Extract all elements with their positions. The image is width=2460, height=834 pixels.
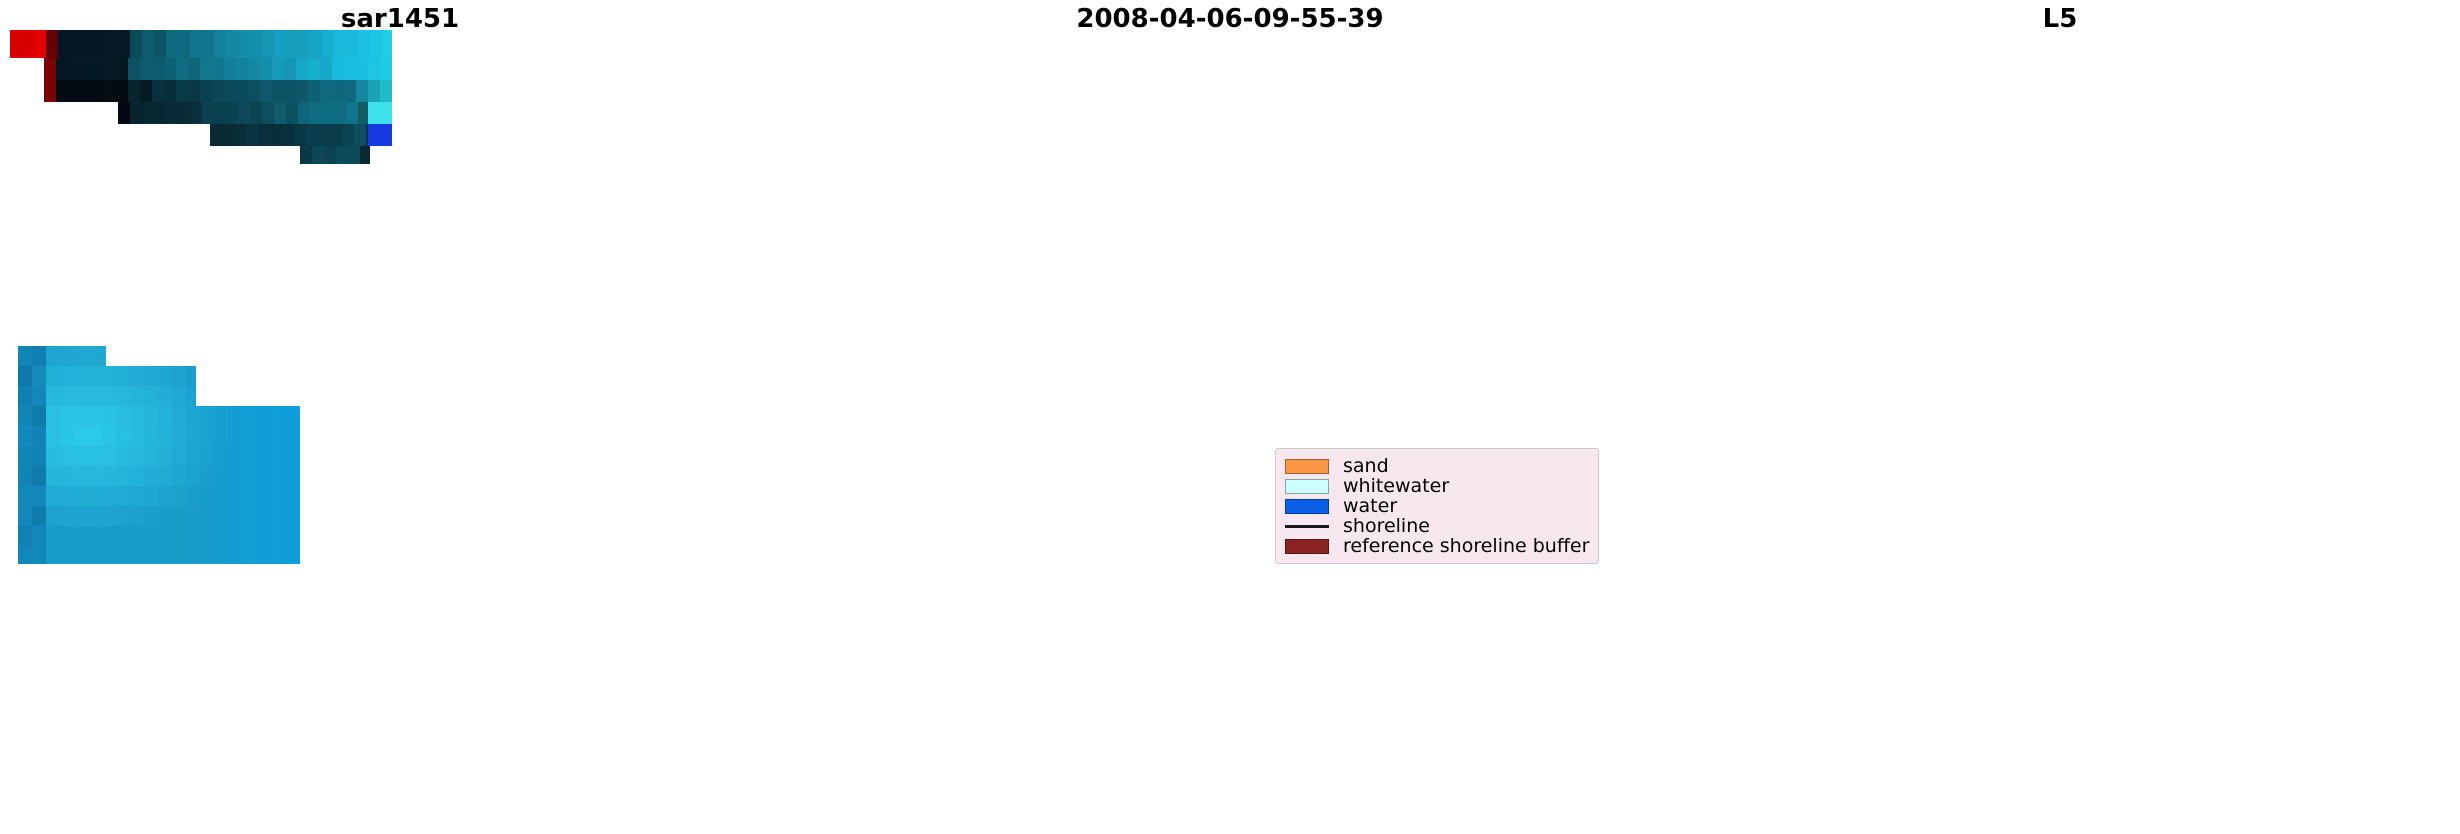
- sar-pixel: [102, 486, 116, 506]
- sar-pixel: [320, 58, 332, 80]
- sar-pixel: [32, 466, 46, 486]
- sar-pixel: [228, 546, 242, 564]
- sar-pixel: [298, 426, 300, 446]
- sar-pixel: [256, 426, 270, 446]
- sar-pixel: [164, 80, 176, 102]
- sar-pixel: [74, 386, 88, 406]
- sar-pixel: [250, 102, 262, 124]
- sar-pixel: [32, 346, 46, 366]
- legend-row: water: [1285, 496, 1589, 516]
- sar-pixel: [308, 80, 320, 102]
- sar-pixel: [270, 466, 284, 486]
- legend-label: reference shoreline buffer: [1343, 536, 1589, 556]
- sar-pixel: [298, 486, 300, 506]
- sar-pixel: [118, 30, 130, 58]
- sar-pixel: [158, 546, 172, 564]
- sar-pixel: [248, 58, 260, 80]
- sar-pixel: [298, 506, 300, 526]
- sar-pixel: [356, 80, 368, 102]
- legend-color-swatch: [1285, 479, 1329, 494]
- sar-pixel: [186, 506, 200, 526]
- sar-pixel: [144, 366, 158, 386]
- sar-pixel: [18, 466, 32, 486]
- sar-pixel: [300, 146, 312, 164]
- sar-pixel: [56, 58, 68, 80]
- sar-pixel: [158, 466, 172, 486]
- legend-label: whitewater: [1343, 476, 1449, 496]
- sar-pixel: [128, 58, 140, 80]
- sar-pixel: [60, 386, 74, 406]
- sar-pixel: [92, 80, 104, 102]
- legend-row: sand: [1285, 456, 1589, 476]
- sar-pixel: [154, 30, 166, 58]
- sar-pixel: [18, 386, 32, 406]
- sar-pixel: [274, 102, 286, 124]
- sar-pixel: [116, 386, 130, 406]
- sar-pixel: [68, 58, 80, 80]
- sar-pixel: [60, 506, 74, 526]
- sar-pixel: [46, 506, 60, 526]
- sar-pixel: [310, 30, 322, 58]
- sar-pixel: [262, 30, 274, 58]
- sar-pixel: [202, 102, 214, 124]
- sar-pixel: [368, 58, 380, 80]
- sar-pixel: [222, 124, 234, 146]
- sar-pixel: [128, 80, 140, 102]
- sar-pixel: [210, 124, 222, 146]
- sar-pixel: [346, 30, 358, 58]
- sar-pixel: [158, 426, 172, 446]
- sar-pixel: [200, 446, 214, 466]
- sar-pixel: [88, 506, 102, 526]
- sar-pixel: [74, 406, 88, 426]
- sar-pixel: [144, 446, 158, 466]
- legend-row: whitewater: [1285, 476, 1589, 496]
- sar-pixel: [158, 446, 172, 466]
- sar-pixel: [18, 526, 32, 546]
- sar-pixel: [186, 386, 196, 406]
- legend-line-swatch: [1285, 519, 1329, 534]
- sar-pixel: [224, 80, 236, 102]
- sar-pixel: [380, 80, 392, 102]
- sar-pixel: [202, 30, 214, 58]
- sar-pixel: [200, 406, 214, 426]
- sar-pixel: [358, 30, 370, 58]
- sar-pixel: [88, 446, 102, 466]
- sar-pixel: [18, 506, 32, 526]
- sar-pixel: [344, 58, 356, 80]
- sar-pixel: [74, 546, 88, 564]
- sar-pixel: [200, 486, 214, 506]
- sar-pixel: [60, 406, 74, 426]
- sar-pixel: [74, 466, 88, 486]
- figure-canvas: sar1451 2008-04-06-09-55-39 L5 sandwhite…: [0, 0, 2460, 834]
- sar-pixel: [166, 30, 178, 58]
- sar-pixel: [296, 80, 308, 102]
- sar-pixel: [356, 58, 368, 80]
- sar-pixel: [186, 466, 200, 486]
- sar-pixel: [88, 426, 102, 446]
- sar-pixel: [116, 58, 128, 80]
- sar-pixel: [270, 546, 284, 564]
- sar-pixel: [274, 30, 286, 58]
- sar-pixel: [104, 80, 116, 102]
- sar-pixel: [18, 546, 32, 564]
- sar-pixel: [370, 30, 382, 58]
- sar-pixel: [116, 466, 130, 486]
- sar-pixel: [228, 446, 242, 466]
- sar-pixel: [360, 146, 370, 164]
- sar-pixel: [88, 386, 102, 406]
- sar-pixel: [10, 30, 22, 58]
- sar-pixel: [102, 406, 116, 426]
- sar-pixel: [32, 486, 46, 506]
- sar-pixel: [82, 30, 94, 58]
- sar-pixel: [286, 30, 298, 58]
- sar-pixel: [322, 30, 334, 58]
- sar-pixel: [298, 526, 300, 546]
- sar-pixel: [18, 406, 32, 426]
- sar-pixel: [130, 30, 142, 58]
- sar-pixel: [188, 80, 200, 102]
- sar-pixel: [186, 546, 200, 564]
- sar-pixel: [172, 546, 186, 564]
- sar-pixel: [116, 526, 130, 546]
- sar-pixel: [158, 406, 172, 426]
- sar-pixel: [46, 446, 60, 466]
- sar-pixel: [298, 102, 310, 124]
- sar-pixel: [242, 506, 256, 526]
- sar-pixel: [226, 102, 238, 124]
- sar-pixel: [34, 30, 46, 58]
- sar-pixel: [312, 146, 324, 164]
- sar-pixel: [336, 146, 348, 164]
- sar-pixel: [88, 346, 102, 366]
- sar-pixel: [116, 426, 130, 446]
- sar-pixel: [262, 102, 274, 124]
- sar-pixel: [172, 366, 186, 386]
- sar-pixel: [186, 446, 200, 466]
- sar-pixel: [152, 80, 164, 102]
- sar-pixel: [298, 446, 300, 466]
- sar-pixel: [284, 58, 296, 80]
- sar-pixel: [332, 80, 344, 102]
- sar-pixel: [18, 346, 32, 366]
- sar-pixel: [212, 80, 224, 102]
- sar-pixel: [234, 124, 246, 146]
- sar-pixel: [214, 446, 228, 466]
- sar-pixel: [282, 124, 294, 146]
- sar-pixel: [88, 486, 102, 506]
- sar-pixel: [46, 30, 58, 58]
- sar-pixel: [382, 30, 392, 58]
- sar-pixel: [58, 30, 70, 58]
- sar-pixel: [284, 466, 298, 486]
- sar-pixel: [214, 426, 228, 446]
- sar-pixel: [60, 446, 74, 466]
- legend-row: reference shoreline buffer: [1285, 536, 1589, 556]
- sar-pixel: [172, 506, 186, 526]
- sar-pixel: [88, 366, 102, 386]
- sar-pixel: [102, 426, 116, 446]
- sar-pixel: [158, 366, 172, 386]
- sar-pixel: [154, 102, 166, 124]
- sar-pixel: [306, 124, 318, 146]
- sar-pixel: [242, 546, 256, 564]
- sar-pixel: [236, 58, 248, 80]
- sar-pixel: [236, 80, 248, 102]
- sar-pixel: [284, 80, 296, 102]
- sar-pixel: [46, 486, 60, 506]
- sar-pixel: [166, 102, 178, 124]
- sar-pixel: [152, 58, 164, 80]
- sar-pixel: [74, 486, 88, 506]
- sar-pixel: [130, 102, 142, 124]
- sar-pixel: [342, 124, 354, 146]
- sar-pixel: [102, 366, 116, 386]
- sar-pixel: [116, 406, 130, 426]
- sar-pixel: [334, 102, 346, 124]
- sar-pixel: [144, 386, 158, 406]
- sar-pixel: [188, 58, 200, 80]
- sar-pixel: [130, 546, 144, 564]
- sar-pixel: [130, 526, 144, 546]
- sar-pixel: [270, 406, 284, 426]
- sar-pixel: [214, 486, 228, 506]
- sar-pixel: [32, 506, 46, 526]
- sar-pixel: [172, 426, 186, 446]
- sar-pixel: [256, 406, 270, 426]
- sar-pixel: [74, 426, 88, 446]
- sar-pixel: [260, 58, 272, 80]
- sar-pixel: [228, 506, 242, 526]
- sar-pixel: [186, 526, 200, 546]
- sar-pixel: [214, 406, 228, 426]
- sar-pixel: [88, 406, 102, 426]
- sar-pixel: [228, 406, 242, 426]
- sar-pixel: [270, 526, 284, 546]
- sar-pixel: [214, 546, 228, 564]
- sar-pixel: [18, 486, 32, 506]
- sar-pixel: [18, 446, 32, 466]
- panel-l5: L5: [1660, 0, 2460, 834]
- sar-pixel: [144, 466, 158, 486]
- sar-pixel: [346, 102, 358, 124]
- sar-pixel: [256, 546, 270, 564]
- sar-pixel: [144, 526, 158, 546]
- sar-pixel: [68, 80, 80, 102]
- sar-pixel: [144, 426, 158, 446]
- sar-pixel: [88, 466, 102, 486]
- sar-pixel: [22, 30, 34, 58]
- sar-pixel: [46, 546, 60, 564]
- sar-pixel: [130, 386, 144, 406]
- sar-pixel: [102, 546, 116, 564]
- sar-pixel: [242, 486, 256, 506]
- sar-pixel: [178, 102, 190, 124]
- sar-pixel: [130, 466, 144, 486]
- sar-pixel: [74, 346, 88, 366]
- sar-pixel: [144, 486, 158, 506]
- sar-pixel: [272, 80, 284, 102]
- sar-pixel: [200, 466, 214, 486]
- sar-pixel: [318, 124, 330, 146]
- sar-pixel: [228, 426, 242, 446]
- sar-pixel: [46, 466, 60, 486]
- sar-pixel: [322, 102, 334, 124]
- sar-pixel: [88, 546, 102, 564]
- sar-pixel: [32, 406, 46, 426]
- sar-pixel: [242, 406, 256, 426]
- sar-pixel: [74, 526, 88, 546]
- sar-pixel: [256, 446, 270, 466]
- sar-pixel: [164, 58, 176, 80]
- sar-pixel: [186, 406, 200, 426]
- sar-pixel: [200, 426, 214, 446]
- sar-pixel: [250, 30, 262, 58]
- sar-pixel: [46, 386, 60, 406]
- sar-pixel: [46, 406, 60, 426]
- sar-pixel: [200, 526, 214, 546]
- sar-pixel: [190, 102, 202, 124]
- sar-pixel: [102, 506, 116, 526]
- sar-pixel: [270, 486, 284, 506]
- legend-color-swatch: [1285, 459, 1329, 474]
- sar-pixel: [324, 146, 336, 164]
- sar-pixel: [214, 30, 226, 58]
- sar-pixel: [330, 124, 342, 146]
- sar-pixel: [144, 546, 158, 564]
- legend-row: shoreline: [1285, 516, 1589, 536]
- sar-pixel: [260, 80, 272, 102]
- sar-pixel: [80, 58, 92, 80]
- sar-pixel: [102, 446, 116, 466]
- sar-pixel: [186, 366, 196, 386]
- sar-pixel: [140, 58, 152, 80]
- sar-pixel: [258, 124, 270, 146]
- sar-pixel: [172, 406, 186, 426]
- sar-pixel: [158, 506, 172, 526]
- sar-pixel: [172, 526, 186, 546]
- sar-pixel: [94, 30, 106, 58]
- sar-pixel: [246, 124, 258, 146]
- sar-pixel: [238, 102, 250, 124]
- sar-pixel: [228, 526, 242, 546]
- sar-pixel: [60, 486, 74, 506]
- sar-pixel: [106, 30, 118, 58]
- sar-pixel: [212, 58, 224, 80]
- sar-pixel: [270, 506, 284, 526]
- sar-pixel: [102, 386, 116, 406]
- sar-pixel: [60, 426, 74, 446]
- sar-pixel: [284, 426, 298, 446]
- sar-pixel: [88, 526, 102, 546]
- sar-pixel: [116, 446, 130, 466]
- sar-pixel: [32, 366, 46, 386]
- sar-pixel: [130, 446, 144, 466]
- sar-pixel: [158, 526, 172, 546]
- sar-pixel: [80, 80, 92, 102]
- sar-pixel: [172, 466, 186, 486]
- sar-pixel: [242, 526, 256, 546]
- sar-pixel: [102, 526, 116, 546]
- sar-pixel: [214, 102, 226, 124]
- sar-pixel: [256, 486, 270, 506]
- sar-pixel: [60, 366, 74, 386]
- sar-pixel: [130, 366, 144, 386]
- sar-pixel: [172, 486, 186, 506]
- sar-pixel: [354, 124, 366, 146]
- sar-pixel: [102, 466, 116, 486]
- sar-pixel: [60, 346, 74, 366]
- sar-pixel: [176, 58, 188, 80]
- sar-pixel: [46, 526, 60, 546]
- sar-pixel: [242, 466, 256, 486]
- sar-pixel: [248, 80, 260, 102]
- sar-pixel: [270, 124, 282, 146]
- map-legend: sandwhitewaterwatershorelinereference sh…: [1275, 448, 1599, 564]
- sar-pixel: [298, 546, 300, 564]
- sar-pixel: [130, 426, 144, 446]
- sar-pixel: [46, 366, 60, 386]
- sar-pixel: [332, 58, 344, 80]
- sar-pixel: [18, 426, 32, 446]
- sar-pixel: [60, 466, 74, 486]
- sar-pixel: [74, 366, 88, 386]
- sar-pixel: [46, 346, 60, 366]
- sar-pixel: [32, 526, 46, 546]
- sar-pixel: [116, 80, 128, 102]
- sar-pixel: [70, 30, 82, 58]
- sar-pixel: [298, 30, 310, 58]
- sar-pixel: [102, 346, 106, 366]
- sar-pixel: [308, 58, 320, 80]
- sar-pixel: [60, 526, 74, 546]
- sar-pixel: [256, 466, 270, 486]
- sar-pixel: [272, 58, 284, 80]
- sar-pixel: [200, 58, 212, 80]
- legend-color-swatch: [1285, 499, 1329, 514]
- legend-label: water: [1343, 496, 1397, 516]
- sar-pixel: [142, 102, 154, 124]
- sar-pixel: [140, 80, 152, 102]
- sar-pixel: [46, 426, 60, 446]
- sar-pixel: [270, 446, 284, 466]
- sar-pixel: [158, 386, 172, 406]
- sar-pixel: [32, 426, 46, 446]
- sar-pixel: [228, 466, 242, 486]
- sar-pixel: [18, 366, 32, 386]
- sar-pixel: [320, 80, 332, 102]
- sar-pixel: [32, 446, 46, 466]
- sar-pixel: [200, 546, 214, 564]
- sar-pixel: [368, 124, 392, 146]
- sar-pixel: [74, 446, 88, 466]
- sar-pixel: [348, 146, 360, 164]
- sar-pixel: [142, 30, 154, 58]
- sar-pixel: [380, 58, 392, 80]
- sar-pixel: [256, 526, 270, 546]
- sar-pixel: [368, 102, 392, 124]
- sar-pixel: [286, 102, 298, 124]
- legend-label: sand: [1343, 456, 1389, 476]
- sar-pixel: [284, 526, 298, 546]
- sar-pixel: [44, 58, 56, 80]
- sar-pixel: [32, 386, 46, 406]
- sar-pixel: [116, 506, 130, 526]
- sar-pixel: [284, 486, 298, 506]
- sar-pixel: [130, 406, 144, 426]
